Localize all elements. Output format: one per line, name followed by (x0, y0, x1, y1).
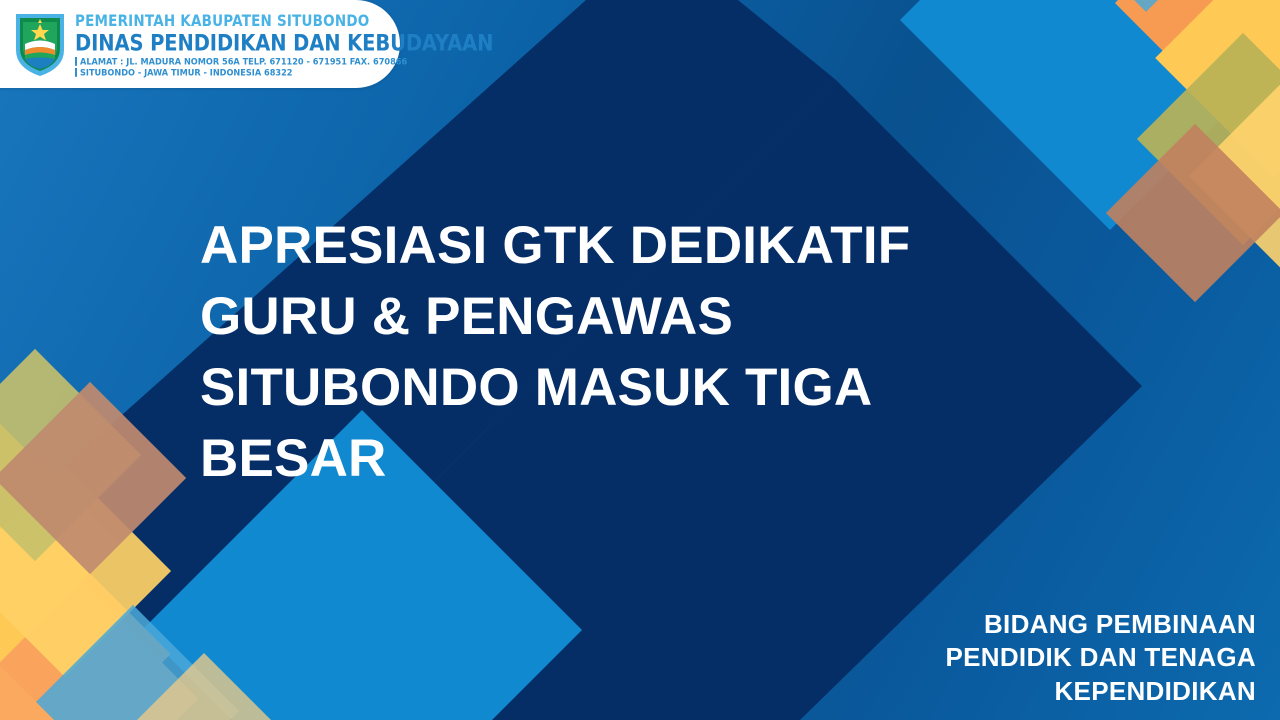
title-line-3: SITUBONDO MASUK TIGA (200, 352, 1000, 423)
title-line-1: APRESIASI GTK DEDIKATIF (200, 210, 1000, 281)
letterhead-line-1: PEMERINTAH KABUPATEN SITUBONDO (75, 14, 493, 30)
subtitle-line-3: KEPENDIDIKAN (946, 675, 1257, 708)
letterhead-line-2: DINAS PENDIDIKAN DAN KEBUDAYAAN (75, 32, 493, 55)
letterhead-region-line: SITUBONDO - JAWA TIMUR - INDONESIA 68322 (75, 68, 493, 77)
slide-title: APRESIASI GTK DEDIKATIF GURU & PENGAWAS … (200, 210, 1000, 494)
presentation-slide: PEMERINTAH KABUPATEN SITUBONDO DINAS PEN… (0, 0, 1280, 720)
subtitle-line-1: BIDANG PEMBINAAN (946, 608, 1257, 641)
subtitle-line-2: PENDIDIK DAN TENAGA (946, 641, 1257, 674)
slide-subtitle: BIDANG PEMBINAAN PENDIDIK DAN TENAGA KEP… (946, 608, 1257, 708)
title-line-4: BESAR (200, 423, 1000, 494)
letterhead-address-line: ALAMAT : JL. MADURA NOMOR 56A TELP. 6711… (75, 57, 493, 66)
title-line-2: GURU & PENGAWAS (200, 281, 1000, 352)
letterhead-text: PEMERINTAH KABUPATEN SITUBONDO DINAS PEN… (75, 12, 493, 76)
situbondo-regency-crest-icon (12, 10, 68, 78)
letterhead-logo-box: PEMERINTAH KABUPATEN SITUBONDO DINAS PEN… (0, 0, 400, 88)
